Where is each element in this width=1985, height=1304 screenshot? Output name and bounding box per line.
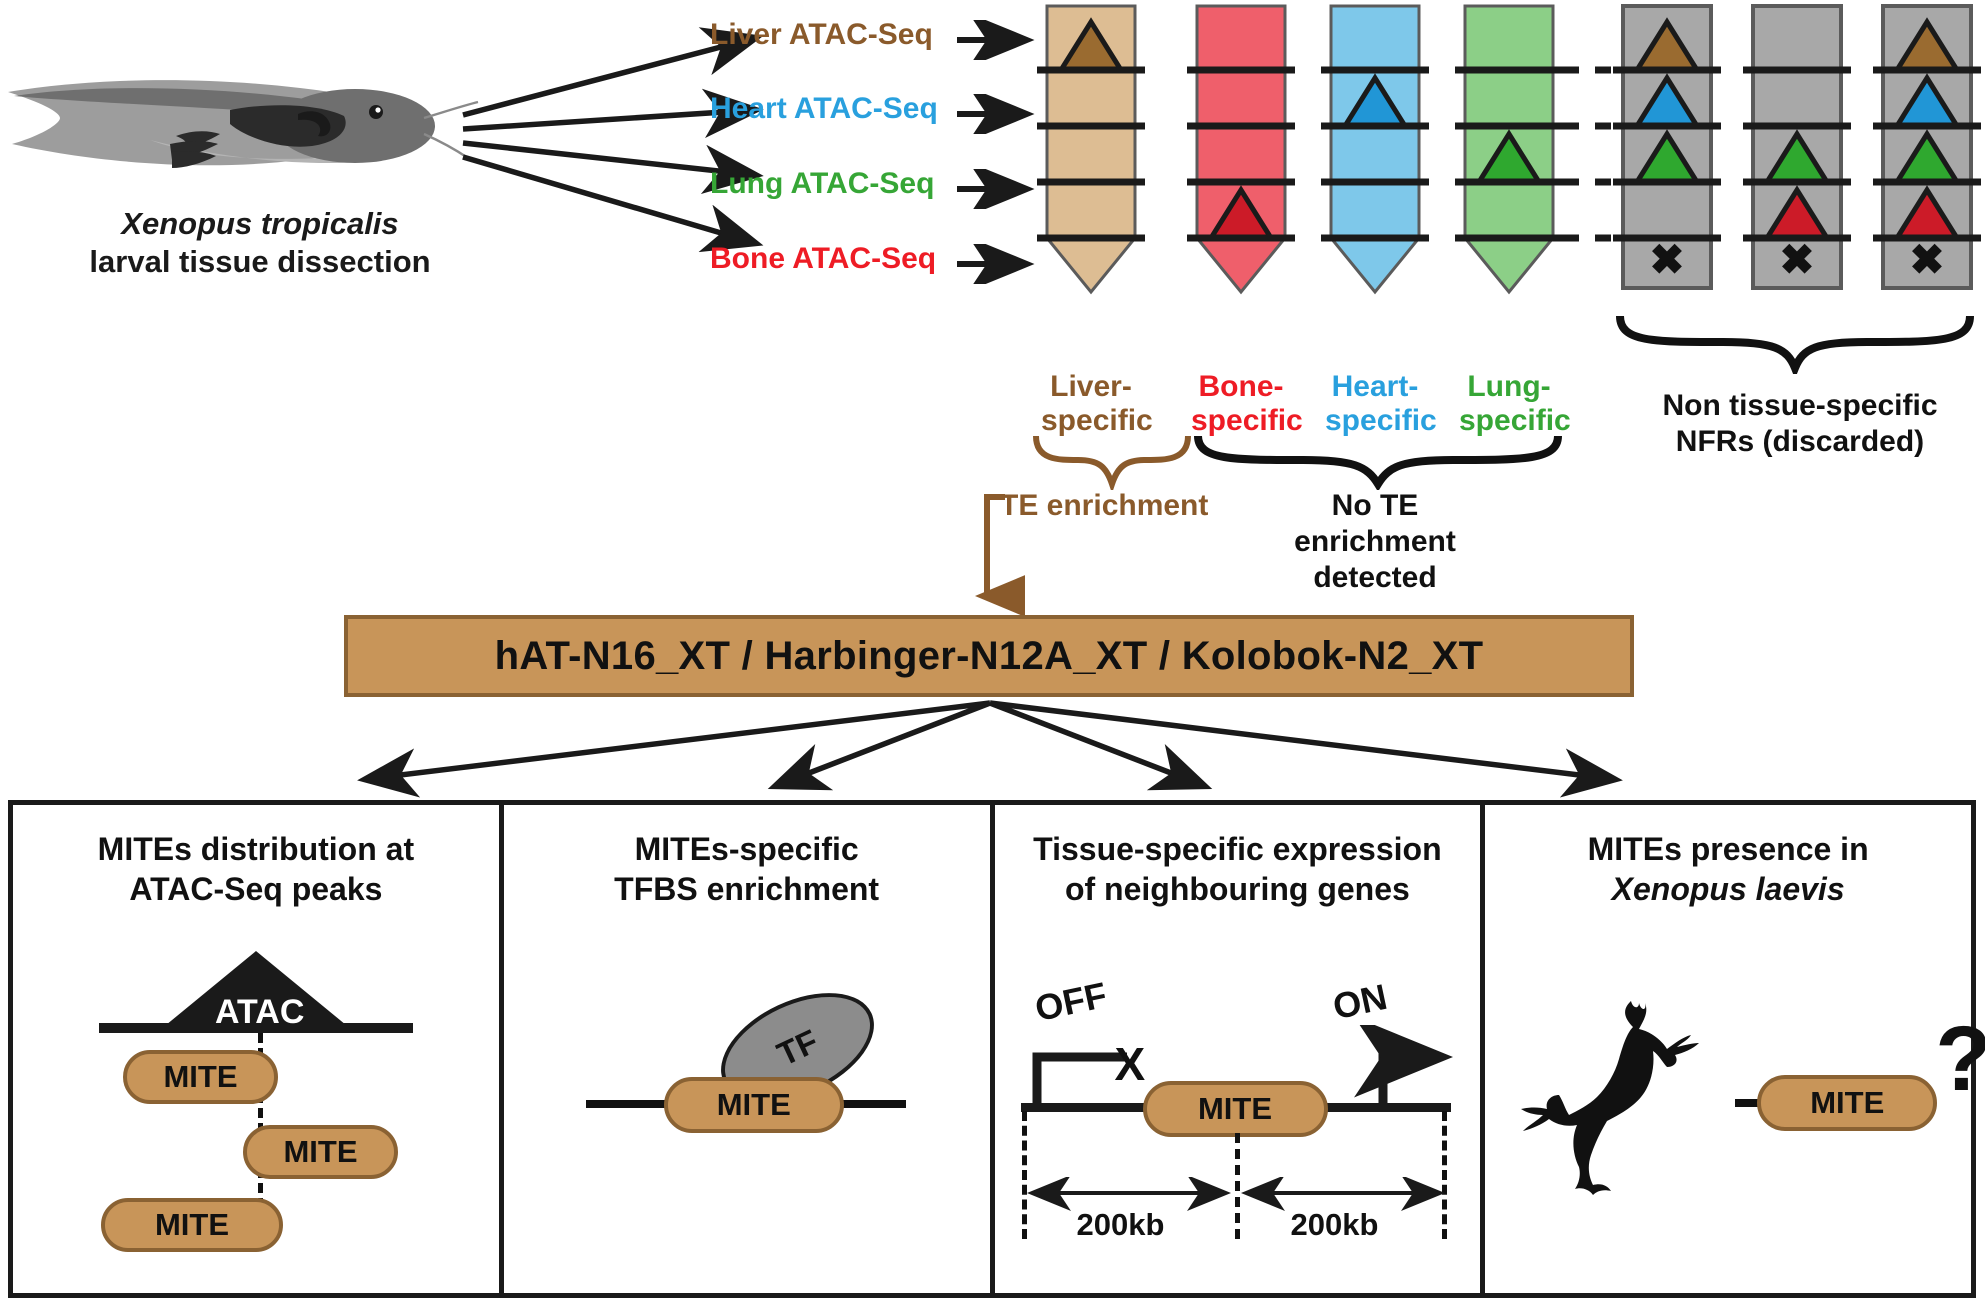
svg-text:✖: ✖ [1649,236,1684,283]
assay-arrow-liver [955,20,1040,60]
spec-label-bone: Bone- specific [1191,370,1291,437]
results-panels: MITEs distribution at ATAC-Seq peaks ATA… [8,800,1976,1298]
column-lung-specific [1455,6,1563,292]
spec-label-heart: Heart- specific [1325,370,1425,437]
column-bone-specific [1187,6,1295,292]
frog-silhouette [1515,987,1715,1197]
panel-mites-distribution: MITEs distribution at ATAC-Seq peaks ATA… [13,805,504,1293]
assay-arrow-heart [955,94,1040,134]
dash-left-bound [1022,1111,1027,1239]
dissection-caption: larval tissue dissection [89,244,430,279]
te-families-bar: hAT-N16_XT / Harbinger-N12A_XT / Kolobok… [344,615,1634,697]
panel-neighbouring-genes: Tissue-specific expression of neighbouri… [995,805,1486,1293]
discarded-note: Non tissue-specific NFRs (discarded) [1640,388,1960,460]
mite-block-laevis: MITE [1757,1075,1937,1131]
column-heart-specific [1321,6,1429,292]
spec-label-liver: Liver- specific [1041,370,1141,437]
distance-arrows [1025,1177,1450,1211]
mite-block-3: MITE [101,1198,283,1252]
mite-block-genes: MITE [1143,1081,1328,1137]
panel-2-title: MITEs-specific TFBS enrichment [504,829,990,910]
gene-on-label: ON [1329,976,1391,1028]
column-discarded-3: ✖ [1873,6,1981,288]
spec-label-lung: Lung- specific [1459,370,1559,437]
gene-off-cross: X [1115,1037,1146,1091]
assay-label-heart: Heart ATAC-Seq [710,92,938,126]
distance-left-label: 200kb [1077,1207,1165,1243]
assay-label-bone: Bone ATAC-Seq [710,242,936,276]
question-mark: ? [1935,1013,1985,1105]
mite-block-tfbs: MITE [664,1077,844,1133]
panel-1-title: MITEs distribution at ATAC-Seq peaks [13,829,499,910]
no-te-enrichment-note: No TE enrichment detected [1255,488,1495,596]
assay-label-lung: Lung ATAC-Seq [710,167,934,201]
tadpole-illustration [0,40,480,210]
panel-xenopus-laevis: MITEs presence in Xenopus laevis MITE ? [1485,805,1971,1293]
organism-caption: Xenopus tropicalis larval tissue dissect… [60,205,460,281]
panel-fan-arrows [330,697,1650,801]
column-discarded-1: ✖ [1613,6,1721,288]
assay-arrow-lung [955,169,1040,209]
svg-text:✖: ✖ [1909,236,1944,283]
dash-right-bound [1442,1111,1447,1239]
column-discarded-2: ✖ [1743,6,1851,288]
te-enrichment-arrow [975,492,1025,622]
assay-arrow-bone [955,244,1040,284]
assay-label-liver: Liver ATAC-Seq [710,18,933,52]
brace-non-liver [1193,432,1563,490]
te-enrichment-note: TE enrichment [1000,488,1208,524]
brace-discarded [1615,312,1975,374]
atac-peak-label: ATAC [215,993,304,1032]
brace-liver [1032,432,1192,490]
panel-3-title: Tissue-specific expression of neighbouri… [995,829,1481,910]
gene-off-label: OFF [1031,974,1110,1030]
svg-text:✖: ✖ [1779,236,1814,283]
nfr-column-chart: ✖ ✖ ✖ [1035,0,1985,360]
panel-tfbs-enrichment: MITEs-specific TFBS enrichment TF MITE [504,805,995,1293]
panel-4-title: MITEs presence in Xenopus laevis [1485,829,1971,910]
column-liver-specific [1037,6,1145,292]
distance-right-label: 200kb [1291,1207,1379,1243]
mite-block-2: MITE [243,1125,398,1179]
species-name: Xenopus tropicalis [60,205,460,243]
mite-block-1: MITE [123,1050,278,1104]
